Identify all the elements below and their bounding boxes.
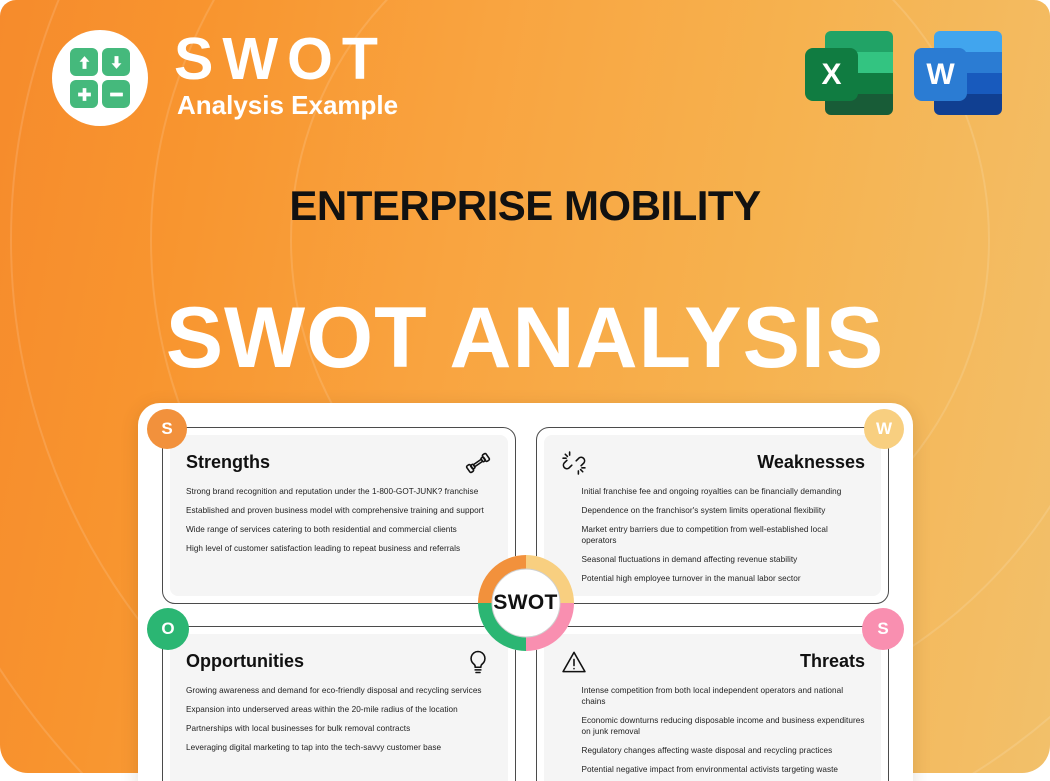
minus-icon (102, 80, 130, 108)
quadrant-strengths[interactable]: S Strengths (162, 427, 516, 604)
dumbbell-icon (464, 449, 492, 477)
page-title: SWOT ANALYSIS (0, 289, 1050, 388)
weaknesses-list: Initial franchise fee and ongoing royalt… (560, 486, 866, 584)
subject-title: ENTERPRISE MOBILITY (0, 182, 1050, 230)
arrow-up-icon (70, 48, 98, 76)
excel-icon-letter: X (805, 48, 858, 101)
list-item: High level of customer satisfaction lead… (186, 543, 492, 554)
threats-title: Threats (588, 652, 866, 672)
swot-board: S Strengths (138, 403, 913, 781)
list-item: Seasonal fluctuations in demand affectin… (582, 554, 866, 565)
weaknesses-title: Weaknesses (588, 453, 866, 473)
list-item: Growing awareness and demand for eco-fri… (186, 685, 492, 696)
opportunities-title: Opportunities (186, 652, 464, 672)
word-icon[interactable]: W (914, 31, 1002, 115)
badge-weaknesses: W (864, 409, 904, 449)
arrow-down-icon (102, 48, 130, 76)
list-item: Leveraging digital marketing to tap into… (186, 742, 492, 753)
excel-icon[interactable]: X (805, 31, 893, 115)
badge-strengths: S (147, 409, 187, 449)
list-item: Strong brand recognition and reputation … (186, 486, 492, 497)
list-item: Partnerships with local businesses for b… (186, 723, 492, 734)
word-icon-letter: W (914, 48, 967, 101)
list-item: Potential high employee turnover in the … (582, 573, 866, 584)
opportunities-list: Growing awareness and demand for eco-fri… (186, 685, 492, 753)
list-item: Intense competition from both local inde… (582, 685, 866, 707)
list-item: Established and proven business model wi… (186, 505, 492, 516)
list-item: Regulatory changes affecting waste dispo… (582, 745, 866, 756)
list-item: Expansion into underserved areas within … (186, 704, 492, 715)
list-item: Wide range of services catering to both … (186, 524, 492, 535)
swot-donut: SWOT (471, 548, 581, 658)
strengths-title: Strengths (186, 453, 464, 473)
list-item: Economic downturns reducing disposable i… (582, 715, 866, 737)
threats-list: Intense competition from both local inde… (560, 685, 866, 775)
badge-threats: S (862, 608, 904, 650)
list-item: Market entry barriers due to competition… (582, 524, 866, 546)
list-item: Initial franchise fee and ongoing royalt… (582, 486, 866, 497)
quadrant-opportunities[interactable]: O Opportunities Growing awareness and de… (162, 626, 516, 781)
logo-title: SWOT (174, 31, 398, 87)
list-item: Potential negative impact from environme… (582, 764, 866, 775)
strengths-list: Strong brand recognition and reputation … (186, 486, 492, 554)
calculator-icon (52, 30, 148, 126)
list-item: Dependence on the franchisor's system li… (582, 505, 866, 516)
plus-icon (70, 80, 98, 108)
broken-chain-icon (560, 449, 588, 477)
brand-logo: SWOT Analysis Example (52, 30, 398, 126)
office-app-icons: X W (805, 31, 1002, 115)
donut-label: SWOT (471, 548, 581, 658)
quadrant-weaknesses[interactable]: W Weaknesses (536, 427, 890, 604)
badge-opportunities: O (147, 608, 189, 650)
logo-subtitle: Analysis Example (177, 90, 398, 121)
swot-slide: SWOT Analysis Example X W ENTERPRISE MOB… (0, 0, 1050, 781)
quadrant-threats[interactable]: S Threats Intense competition from both … (536, 626, 890, 781)
